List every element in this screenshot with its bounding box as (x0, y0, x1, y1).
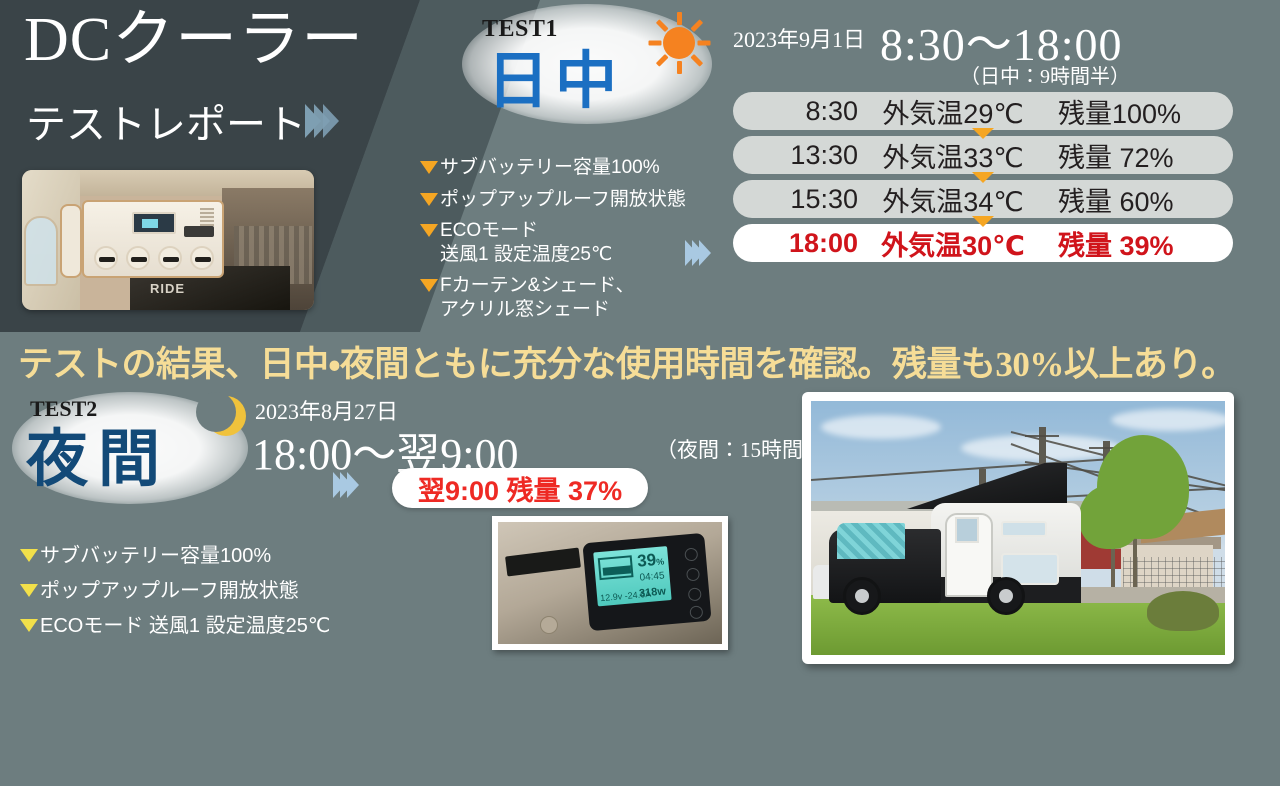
list-item: Fカーテン&シェード、 アクリル窓シェード (420, 274, 720, 321)
photo-bag-text: RIDE (150, 281, 185, 296)
summary-headline: テストの結果、日中・夜間ともに充分な使用時間を確認。残量も30%以上あり。 (18, 336, 1268, 387)
triangle-bullet-icon (420, 279, 438, 292)
test1-duration: （日中：9時間半） (960, 60, 1130, 89)
list-item: ECOモード 送風1 設定温度25℃ (20, 614, 440, 639)
test1-badge-text: 日中 (487, 30, 623, 120)
list-item: サブバッテリー容量100% (420, 156, 720, 180)
battery-monitor-photo: 39% 04:45 12.9v -24.6A 318w (492, 516, 728, 650)
dc-cooler-unit-photo: RIDE (22, 170, 314, 310)
chevron-right-icon (338, 472, 359, 498)
poster-root: DCクーラー テストレポート RIDE TEST1 日中 (0, 0, 1280, 800)
condition-text: サブバッテリー容量100% (40, 544, 271, 569)
condition-text: ECOモード 送風1 設定温度25℃ (40, 614, 330, 639)
reading-time: 8:30 (748, 96, 858, 127)
moon-icon (206, 396, 250, 440)
test2-duration: （夜間：15時間） (656, 434, 824, 464)
reading-battery: 残量 60% (1048, 180, 1218, 219)
reading-temp: 外気温34℃ (858, 180, 1048, 219)
triangle-bullet-icon (20, 549, 38, 562)
camper-van-exterior-photo (802, 392, 1234, 664)
page-subtitle-row: テストレポート (26, 92, 339, 150)
monitor-percent-unit: % (656, 556, 665, 567)
footer-spacer (0, 786, 1280, 800)
chevron-right-icon (312, 104, 339, 138)
reading-row: 15:30 外気温34℃ 残量 60% (733, 180, 1233, 218)
test2-badge-text: 夜間 (26, 408, 170, 498)
reading-time: 18:00 (748, 228, 858, 259)
test1-date: 2023年9月1日 (733, 22, 865, 54)
triangle-bullet-icon (20, 619, 38, 632)
monitor-time-remaining: 04:45 (639, 570, 665, 583)
reading-battery: 残量100% (1048, 92, 1218, 131)
reading-temp: 外気温33℃ (858, 136, 1048, 175)
reading-battery: 残量 72% (1048, 136, 1218, 175)
reading-time: 13:30 (748, 140, 858, 171)
triangle-bullet-icon (420, 161, 438, 174)
condition-text: ECOモード 送風1 設定温度25℃ (440, 219, 612, 266)
arrow-down-icon (972, 216, 994, 227)
list-item: ポップアップルーフ開放状態 (20, 579, 440, 604)
list-item: ECOモード 送風1 設定温度25℃ (420, 219, 720, 266)
list-item: ポップアップルーフ開放状態 (420, 188, 720, 212)
condition-text: ポップアップルーフ開放状態 (40, 579, 299, 604)
reading-battery: 残量 39% (1048, 224, 1218, 263)
list-item: サブバッテリー容量100% (20, 544, 440, 569)
triangle-bullet-icon (420, 224, 438, 237)
reading-row-final: 18:00 外気温30℃ 残量 39% (733, 224, 1233, 262)
page-subtitle: テストレポート (26, 92, 306, 150)
monitor-percent: 39 (636, 550, 657, 571)
test1-conditions-list: サブバッテリー容量100% ポップアップルーフ開放状態 ECOモード 送風1 設… (420, 156, 720, 329)
page-title: DCクーラー (24, 8, 364, 73)
reading-temp: 外気温30℃ (858, 224, 1048, 263)
triangle-bullet-icon (20, 584, 38, 597)
sun-icon (648, 12, 710, 74)
reading-time: 15:30 (748, 184, 858, 215)
arrow-down-icon (972, 172, 994, 183)
test1-readings-list: 8:30 外気温29℃ 残量100% 13:30 外気温33℃ 残量 72% 1… (733, 92, 1233, 268)
arrow-down-icon (972, 128, 994, 139)
condition-text: サブバッテリー容量100% (440, 156, 660, 180)
triangle-bullet-icon (420, 193, 438, 206)
condition-text: Fカーテン&シェード、 アクリル窓シェード (440, 274, 635, 321)
test2-result-badge: 翌9:00 残量 37% (392, 468, 648, 508)
reading-row: 13:30 外気温33℃ 残量 72% (733, 136, 1233, 174)
monitor-watts: 318w (639, 585, 667, 599)
test2-conditions-list: サブバッテリー容量100% ポップアップルーフ開放状態 ECOモード 送風1 設… (20, 544, 440, 648)
reading-row: 8:30 外気温29℃ 残量100% (733, 92, 1233, 130)
reading-temp: 外気温29℃ (858, 92, 1048, 131)
chevron-right-icon (690, 240, 711, 266)
condition-text: ポップアップルーフ開放状態 (440, 188, 686, 212)
